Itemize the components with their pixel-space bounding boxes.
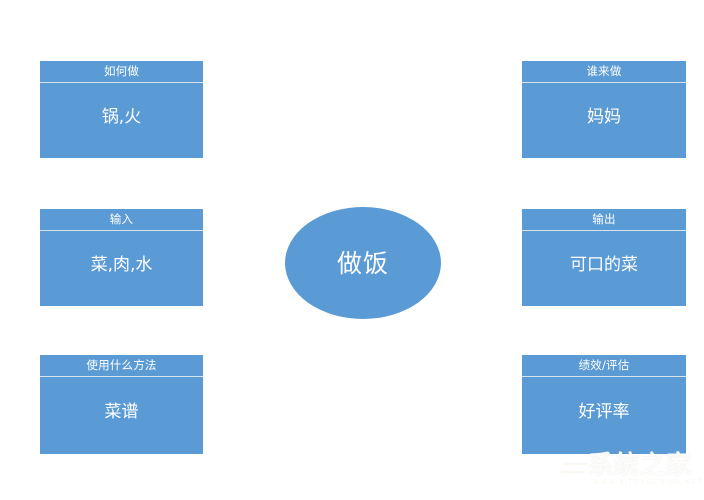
- process-box-how[interactable]: 如何做 锅,火: [40, 61, 203, 158]
- process-box-performance-body: 好评率: [522, 377, 686, 454]
- process-box-output-header: 输出: [522, 209, 686, 231]
- process-box-input-header: 输入: [40, 209, 203, 231]
- process-box-how-body: 锅,火: [40, 83, 203, 158]
- process-box-how-value: 锅,火: [102, 109, 141, 126]
- process-box-how-header: 如何做: [40, 61, 203, 83]
- process-box-method-header: 使用什么方法: [40, 355, 203, 377]
- process-box-input-body: 菜,肉,水: [40, 231, 203, 306]
- process-box-who-value: 妈妈: [587, 109, 621, 126]
- process-box-who[interactable]: 谁来做 妈妈: [522, 61, 686, 158]
- process-box-who-header-label: 谁来做: [586, 66, 621, 78]
- process-box-performance-header-label: 绩效/评估: [579, 360, 630, 372]
- center-process-label: 做饭: [337, 251, 389, 276]
- center-process-node[interactable]: 做饭: [285, 207, 441, 319]
- process-box-output-value: 可口的菜: [570, 257, 638, 274]
- process-box-performance-header: 绩效/评估: [522, 355, 686, 377]
- process-box-input-value: 菜,肉,水: [91, 257, 153, 274]
- process-box-output-body: 可口的菜: [522, 231, 686, 306]
- process-box-input[interactable]: 输入 菜,肉,水: [40, 209, 203, 306]
- watermark-title: 系统之家: [588, 452, 692, 477]
- process-box-method-header-label: 使用什么方法: [86, 360, 156, 372]
- house-logo-icon: [504, 448, 600, 492]
- process-box-who-header: 谁来做: [522, 61, 686, 83]
- process-box-method-body: 菜谱: [40, 377, 203, 454]
- diagram-canvas: 如何做 锅,火 谁来做 妈妈 输入 菜,肉,水 输出 可口的菜: [0, 0, 704, 500]
- process-box-how-header-label: 如何做: [104, 66, 139, 78]
- process-box-who-body: 妈妈: [522, 83, 686, 158]
- process-box-output[interactable]: 输出 可口的菜: [522, 209, 686, 306]
- process-box-method[interactable]: 使用什么方法 菜谱: [40, 355, 203, 454]
- watermark-subtitle: WWW.XITONGZHIJIA.NET: [592, 479, 703, 486]
- process-box-performance[interactable]: 绩效/评估 好评率: [522, 355, 686, 454]
- process-box-performance-value: 好评率: [579, 404, 630, 421]
- watermark: 系统之家 WWW.XITONGZHIJIA.NET: [500, 446, 704, 500]
- process-box-output-header-label: 输出: [592, 214, 615, 226]
- process-box-method-value: 菜谱: [105, 404, 139, 421]
- process-box-input-header-label: 输入: [110, 214, 133, 226]
